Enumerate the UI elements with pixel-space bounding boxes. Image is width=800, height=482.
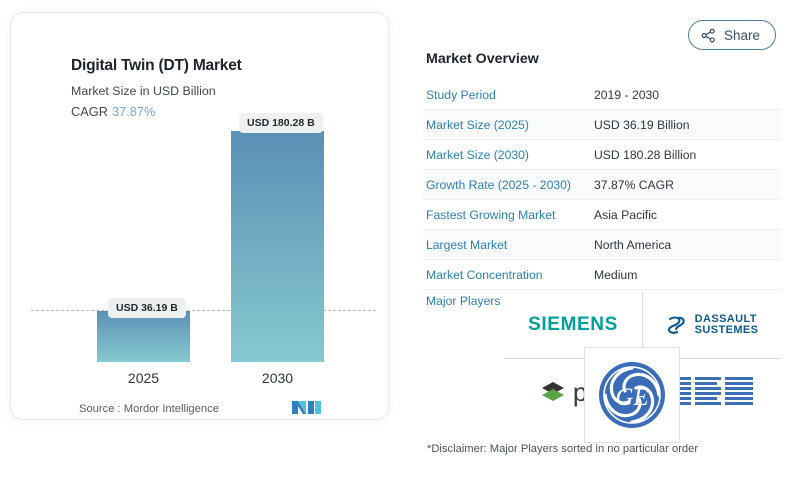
siemens-logo: SIEMENS [528,314,618,336]
row-value: North America [594,238,671,252]
row-value: 37.87% CAGR [594,178,674,192]
market-summary-page: Digital Twin (DT) Market Market Size in … [0,0,800,482]
table-row: Fastest Growing Market Asia Pacific [423,200,781,230]
share-button-label: Share [724,28,760,43]
ge-wordmark: GE [615,384,648,411]
table-row: Market Concentration Medium [423,260,781,290]
bar-2025[interactable] [97,311,190,362]
bar-label-2025: USD 36.19 B [108,298,186,318]
chart-source: Source : Mordor Intelligence [79,403,219,415]
row-value: Medium [594,268,637,282]
ptc-mark-icon [540,379,566,405]
share-button[interactable]: Share [688,20,776,50]
table-row: Market Size (2030) USD 180.28 Billion [423,140,781,170]
dassault-systemes-logo: DASSAULT SUSTEMES [666,313,759,337]
ibm-logo [669,375,755,409]
reference-dashed-line [31,310,376,311]
row-value: USD 36.19 Billion [594,118,690,132]
ge-logo: GE [596,359,668,431]
market-overview-title: Market Overview [426,51,539,67]
row-value: USD 180.28 Billion [594,148,696,162]
bar-label-2030: USD 180.28 B [239,113,323,133]
player-cell-ge: GE [584,347,680,443]
table-row: Growth Rate (2025 - 2030) 37.87% CAGR [423,170,781,200]
disclaimer-text: *Disclaimer: Major Players sorted in no … [427,443,698,455]
row-value: 2019 - 2030 [594,88,659,102]
row-key: Growth Rate (2025 - 2030) [423,178,594,192]
dassault-line2: SUSTEMES [695,325,759,337]
bar-chart-plot: USD 180.28 B USD 36.19 B 2025 2030 [11,13,388,419]
table-row: Largest Market North America [423,230,781,260]
row-key: Market Size (2030) [423,148,594,162]
row-key: Fastest Growing Market [423,208,594,222]
chart-card: Digital Twin (DT) Market Market Size in … [11,13,388,419]
x-axis-tick-2025: 2025 [97,370,190,386]
row-key: Largest Market [423,238,594,252]
mordor-intelligence-logo [292,399,322,416]
share-icon [701,28,716,43]
market-overview-table: Study Period 2019 - 2030 Market Size (20… [423,80,781,290]
row-value: Asia Pacific [594,208,657,222]
x-axis-tick-2030: 2030 [231,370,324,386]
row-key: Study Period [423,88,594,102]
dassault-mark-icon [666,313,690,337]
table-row: Market Size (2025) USD 36.19 Billion [423,110,781,140]
dassault-wordmark: DASSAULT SUSTEMES [695,314,759,337]
bar-2030[interactable] [231,131,324,362]
major-players-label: Major Players [426,294,501,308]
table-row: Study Period 2019 - 2030 [423,80,781,110]
row-key: Market Size (2025) [423,118,594,132]
row-key: Market Concentration [423,268,594,282]
